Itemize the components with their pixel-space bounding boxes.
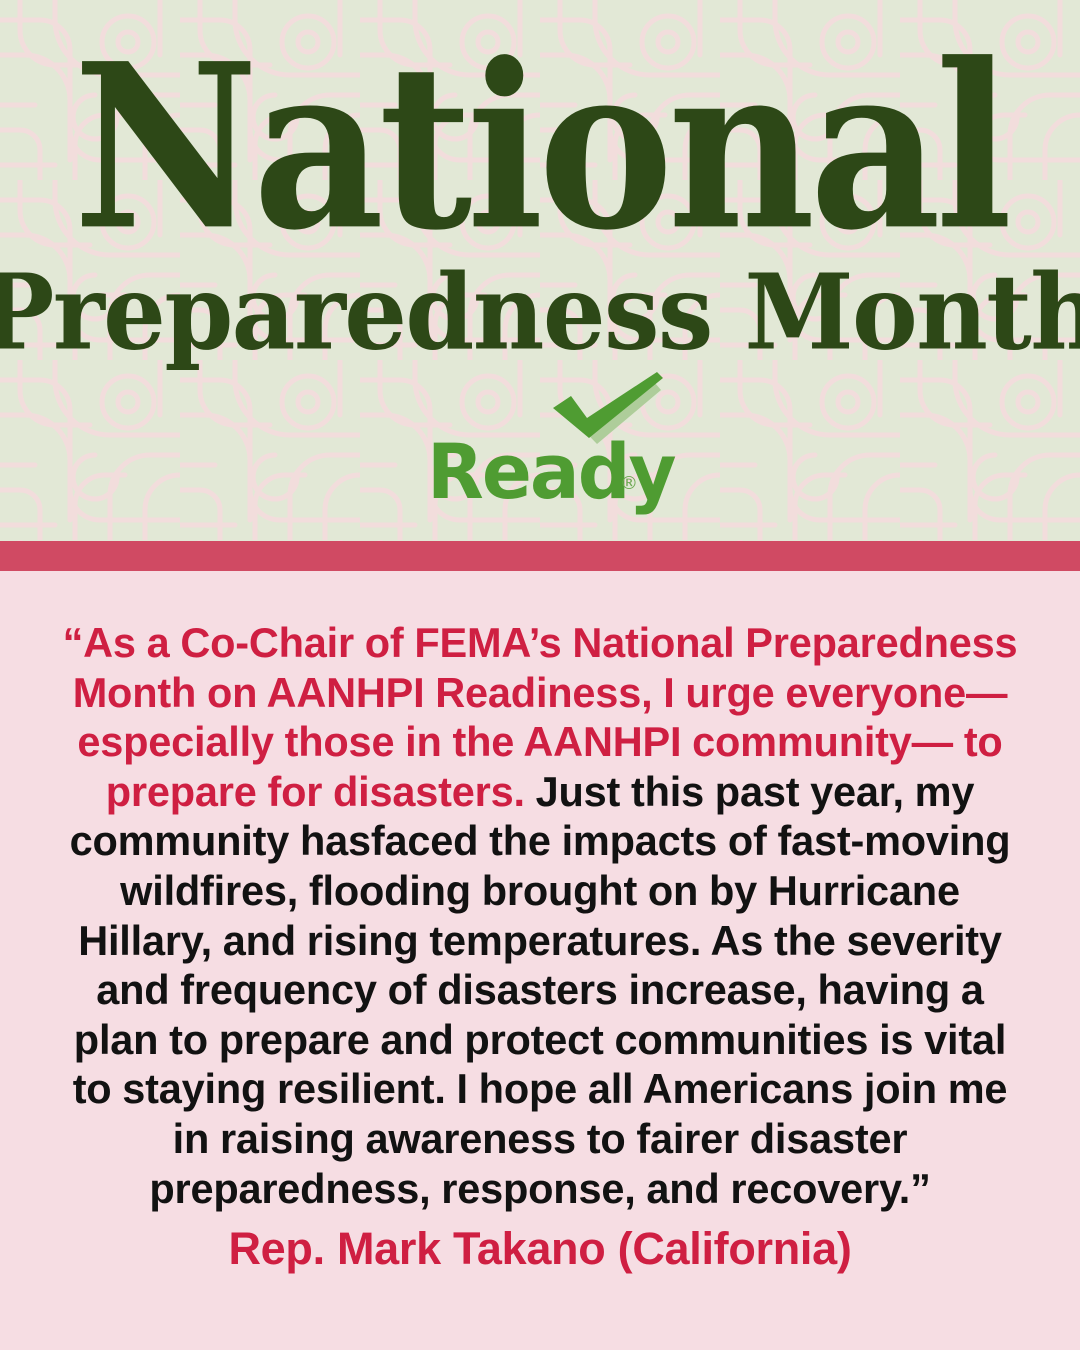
ready-logo: Ready ® [415,372,665,507]
ready-wordmark: Ready [427,434,675,510]
quote-remainder: Just this past year, my community hasfac… [70,768,1011,1212]
section-divider [0,541,1080,571]
page-title-line1: National [73,34,1007,261]
preparedness-poster: National Preparedness Month Ready ® “As … [0,0,1080,1350]
quote-section: “As a Co-Chair of FEMA’s National Prepar… [0,571,1080,1350]
registered-trademark-icon: ® [620,475,638,493]
quote-attribution: Rep. Mark Takano (California) [40,1226,1040,1271]
quote-text: “As a Co-Chair of FEMA’s National Prepar… [56,618,1024,1213]
hero-section: National Preparedness Month Ready ® [0,0,1080,541]
page-title-line2: Preparedness Month [0,260,1080,364]
